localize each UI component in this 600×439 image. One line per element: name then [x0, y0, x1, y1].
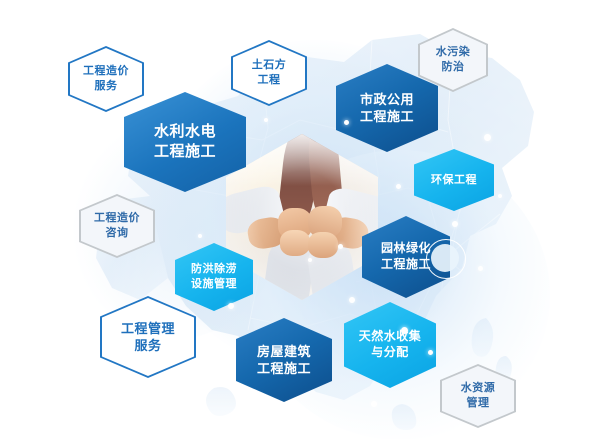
- hexagon-landscape-greening-engineering-construction[interactable]: 园林绿化工程施工: [362, 216, 450, 298]
- decorative-dot: [478, 266, 483, 271]
- hexagon-natural-water-collection-distribution[interactable]: 天然水收集与分配: [344, 302, 436, 388]
- hexagon-municipal-public-engineering-construction[interactable]: 市政公用工程施工: [336, 64, 438, 152]
- hexagon-label: 天然水收集与分配: [355, 329, 426, 361]
- decorative-dot: [498, 194, 502, 198]
- hexagon-label: 工程造价服务: [79, 64, 133, 93]
- hexagon-label: 防洪除涝设施管理: [187, 262, 241, 291]
- hexagon-label: 土石方工程: [248, 58, 291, 87]
- hexagon-label: 市政公用工程施工: [356, 91, 418, 125]
- hexagon-label: 水利水电工程施工: [150, 122, 220, 162]
- hexagon-hydropower-engineering-construction[interactable]: 水利水电工程施工: [124, 92, 246, 192]
- hexagon-label: 工程管理服务: [117, 320, 179, 354]
- hexagon-label: 水污染防治: [432, 45, 475, 74]
- decorative-dot: [264, 118, 268, 122]
- decorative-dot: [484, 134, 491, 141]
- infographic-canvas: 工程造价服务土石方工程水污染防治水利水电工程施工市政公用工程施工环保工程工程造价…: [0, 0, 600, 439]
- decorative-dot: [371, 401, 377, 407]
- hexagon-label: 环保工程: [427, 173, 481, 188]
- hexagon-label: 水资源管理: [457, 381, 500, 410]
- decorative-dot: [396, 184, 401, 189]
- hexagon-environmental-protection-engineering[interactable]: 环保工程: [414, 149, 494, 211]
- hexagon-label: 工程造价咨询: [90, 211, 144, 240]
- decorative-dot: [198, 234, 202, 238]
- hexagon-building-construction-engineering[interactable]: 房屋建筑工程施工: [236, 318, 332, 402]
- hexagon-engineering-cost-consulting[interactable]: 工程造价咨询: [79, 194, 155, 258]
- decorative-dot: [452, 221, 458, 227]
- hexagon-label: 房屋建筑工程施工: [253, 343, 315, 377]
- hexagon-label: 园林绿化工程施工: [377, 241, 435, 273]
- hexagon-engineering-management-service[interactable]: 工程管理服务: [100, 296, 196, 378]
- hexagon-water-resource-management[interactable]: 水资源管理: [440, 364, 516, 428]
